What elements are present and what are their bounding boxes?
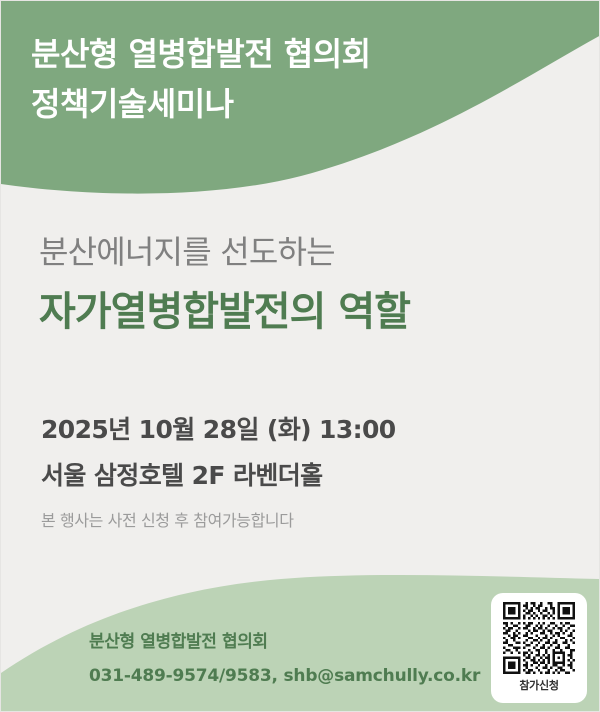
header-line-2: 정책기술세미나 — [31, 79, 600, 129]
registration-qr-card[interactable]: 참가신청 — [491, 593, 587, 703]
event-datetime: 2025년 10월 28일 (화) 13:00 — [41, 407, 600, 453]
poster-header: 분산형 열병합발전 협의회 정책기술세미나 — [1, 1, 600, 181]
poster-headline-group: 분산에너지를 선도하는 자가열병합발전의 역할 — [1, 229, 600, 341]
event-details: 2025년 10월 28일 (화) 13:00 서울 삼정호텔 2F 라벤더홀 … — [1, 407, 600, 535]
qr-code-icon[interactable] — [503, 602, 575, 674]
event-registration-note: 본 행사는 사전 신청 후 참여가능합니다 — [41, 507, 600, 535]
qr-card-label: 참가신청 — [519, 678, 558, 694]
headline-title: 자가열병합발전의 역할 — [39, 283, 600, 341]
event-venue: 서울 삼정호텔 2F 라벤더홀 — [41, 453, 600, 499]
header-line-1: 분산형 열병합발전 협의회 — [31, 29, 600, 79]
event-poster: 분산형 열병합발전 협의회 정책기술세미나 분산에너지를 선도하는 자가열병합발… — [0, 0, 600, 712]
headline-subtitle: 분산에너지를 선도하는 — [39, 229, 600, 275]
